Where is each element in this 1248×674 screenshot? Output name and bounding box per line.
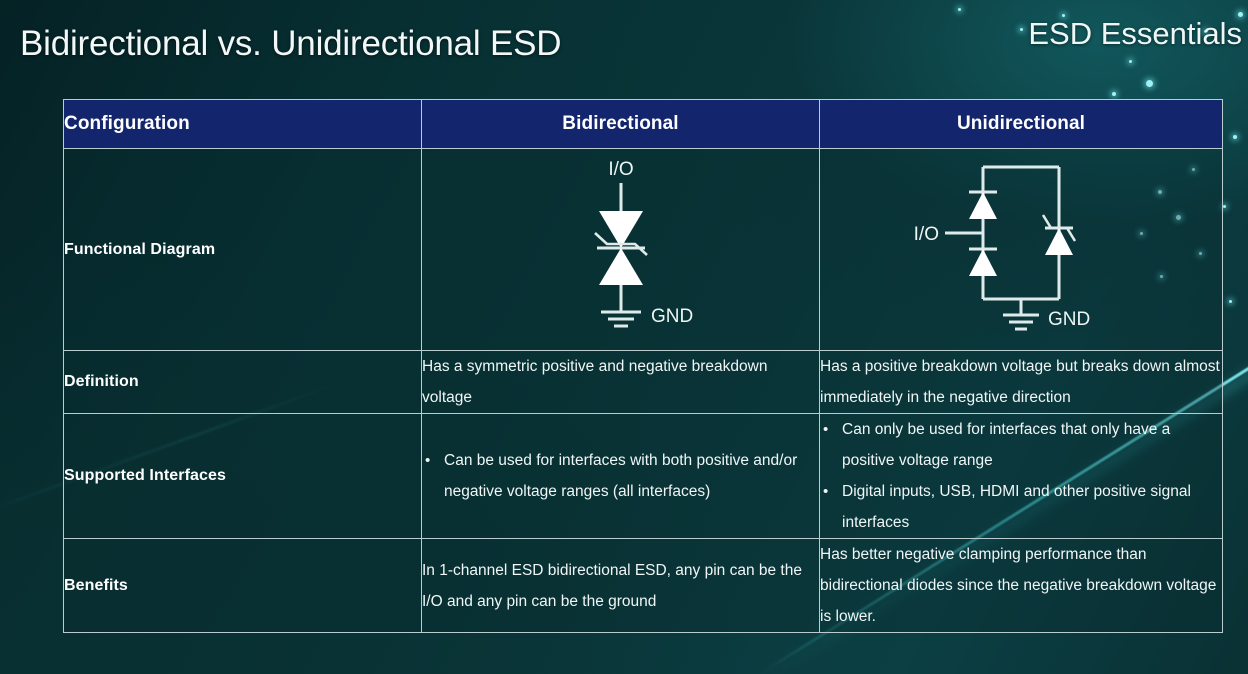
supported-interfaces-unidirectional: Can only be used for interfaces that onl…	[820, 414, 1223, 539]
io-label-unidirectional: I/O	[914, 224, 939, 245]
list-item: Digital inputs, USB, HDMI and other posi…	[820, 476, 1222, 538]
row-label-supported-interfaces: Supported Interfaces	[64, 414, 422, 539]
gnd-label-unidirectional: GND	[1048, 309, 1090, 330]
gnd-label-bidirectional: GND	[651, 306, 693, 327]
table-row-functional-diagram: Functional Diagram I/O	[64, 149, 1223, 351]
unidirectional-esd-schematic: I/O GND	[891, 149, 1151, 345]
sparkle-dot	[1233, 135, 1237, 139]
deck-label: ESD Essentials	[1028, 16, 1242, 52]
table-row-definition: Definition Has a symmetric positive and …	[64, 351, 1223, 414]
io-label-bidirectional: I/O	[608, 159, 633, 180]
list-item: Can only be used for interfaces that onl…	[820, 414, 1222, 476]
supported-interfaces-bidirectional: Can be used for interfaces with both pos…	[422, 414, 820, 539]
column-header-configuration: Configuration	[64, 100, 422, 149]
sparkle-dot	[1020, 28, 1023, 31]
header-row: Configuration Bidirectional Unidirection…	[64, 100, 1223, 149]
column-header-bidirectional: Bidirectional	[422, 100, 820, 149]
row-label-benefits: Benefits	[64, 539, 422, 633]
sparkle-dot	[958, 8, 961, 11]
bidirectional-esd-schematic: I/O GND	[521, 149, 721, 345]
bidirectional-functional-diagram: I/O GND	[422, 149, 820, 351]
row-label-definition: Definition	[64, 351, 422, 414]
definition-bidirectional: Has a symmetric positive and negative br…	[422, 351, 820, 414]
definition-unidirectional: Has a positive breakdown voltage but bre…	[820, 351, 1223, 414]
list-item: Can be used for interfaces with both pos…	[422, 445, 819, 507]
sparkle-dot	[1223, 205, 1226, 208]
sparkle-dot	[1112, 92, 1116, 96]
comparison-table: Configuration Bidirectional Unidirection…	[63, 99, 1223, 633]
benefits-bidirectional: In 1-channel ESD bidirectional ESD, any …	[422, 539, 820, 633]
column-header-unidirectional: Unidirectional	[820, 100, 1223, 149]
table-row-supported-interfaces: Supported Interfaces Can be used for int…	[64, 414, 1223, 539]
table-row-benefits: Benefits In 1-channel ESD bidirectional …	[64, 539, 1223, 633]
bullet-list-bidirectional: Can be used for interfaces with both pos…	[422, 445, 819, 507]
table-body: Functional Diagram I/O	[64, 149, 1223, 633]
table-header: Configuration Bidirectional Unidirection…	[64, 100, 1223, 149]
page-title: Bidirectional vs. Unidirectional ESD	[20, 24, 561, 64]
unidirectional-functional-diagram: I/O GND	[820, 149, 1223, 351]
sparkle-dot	[1229, 300, 1232, 303]
benefits-unidirectional: Has better negative clamping performance…	[820, 539, 1223, 633]
bullet-list-unidirectional: Can only be used for interfaces that onl…	[820, 414, 1222, 538]
sparkle-dot	[1146, 80, 1153, 87]
sparkle-dot	[1129, 60, 1132, 63]
row-label-functional-diagram: Functional Diagram	[64, 149, 422, 351]
